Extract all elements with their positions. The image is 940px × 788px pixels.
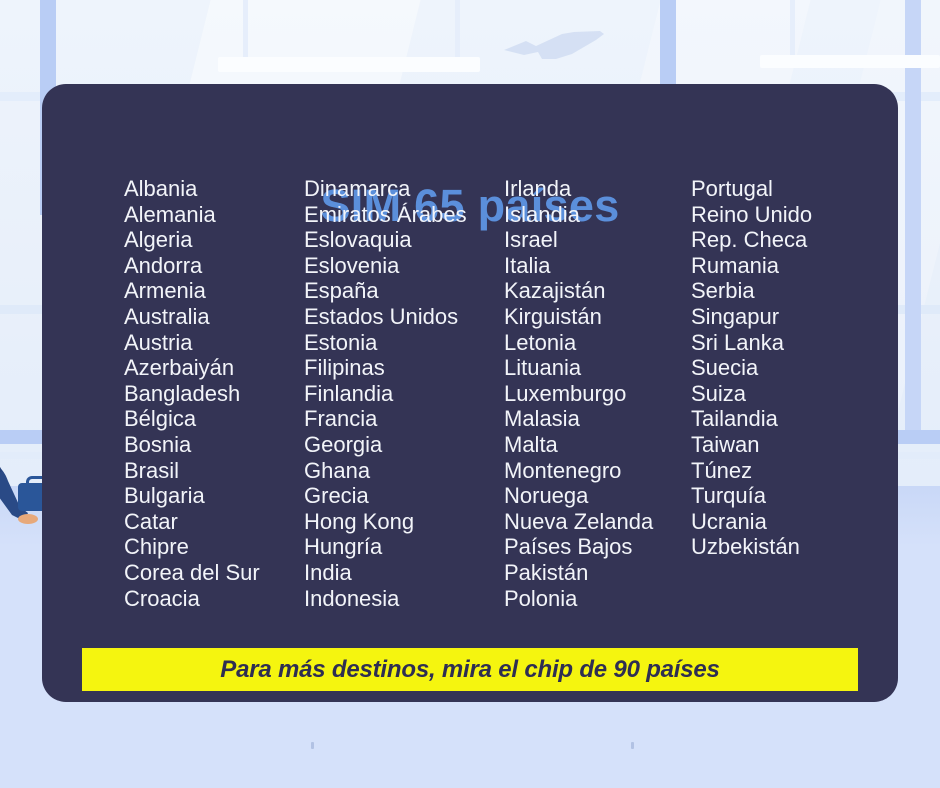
country-item: Turquía — [691, 483, 864, 509]
country-item: Bosnia — [124, 432, 304, 458]
country-item: Polonia — [504, 586, 691, 612]
country-item: Australia — [124, 304, 304, 330]
country-item: Ghana — [304, 458, 504, 484]
airplane-icon — [500, 28, 610, 62]
country-column-3: Irlanda Islandia Israel Italia Kazajistá… — [504, 176, 691, 611]
country-item: Uzbekistán — [691, 534, 864, 560]
hanging-sign-board — [760, 55, 940, 68]
country-item: Israel — [504, 227, 691, 253]
country-item: Rep. Checa — [691, 227, 864, 253]
country-item: Brasil — [124, 458, 304, 484]
country-item: Indonesia — [304, 586, 504, 612]
country-column-1: Albania Alemania Algeria Andorra Armenia… — [124, 176, 304, 611]
country-item: Austria — [124, 330, 304, 356]
country-item: Kazajistán — [504, 278, 691, 304]
country-item: Azerbaiyán — [124, 355, 304, 381]
country-list-card: SIM 65 países Albania Alemania Algeria A… — [42, 84, 898, 702]
country-item: Corea del Sur — [124, 560, 304, 586]
country-item: Georgia — [304, 432, 504, 458]
country-item: Andorra — [124, 253, 304, 279]
country-item: Bulgaria — [124, 483, 304, 509]
country-item: Islandia — [504, 202, 691, 228]
sign-stem — [790, 0, 795, 56]
country-item: Túnez — [691, 458, 864, 484]
country-item: Luxemburgo — [504, 381, 691, 407]
country-item: Hong Kong — [304, 509, 504, 535]
country-item: Bangladesh — [124, 381, 304, 407]
country-item: Malasia — [504, 406, 691, 432]
country-item: Serbia — [691, 278, 864, 304]
country-item: Nueva Zelanda — [504, 509, 691, 535]
country-item: Croacia — [124, 586, 304, 612]
country-column-2: Dinamarca Emiratos Árabes Eslovaquia Esl… — [304, 176, 504, 611]
country-item: Kirguistán — [504, 304, 691, 330]
country-item: Catar — [124, 509, 304, 535]
hanging-sign-board — [218, 57, 480, 72]
country-item: Dinamarca — [304, 176, 504, 202]
country-item: Italia — [504, 253, 691, 279]
country-item: India — [304, 560, 504, 586]
country-item: Grecia — [304, 483, 504, 509]
country-item: Noruega — [504, 483, 691, 509]
country-item: Suecia — [691, 355, 864, 381]
country-item: Albania — [124, 176, 304, 202]
country-item: Eslovenia — [304, 253, 504, 279]
country-item: Lituania — [504, 355, 691, 381]
country-item: Eslovaquia — [304, 227, 504, 253]
country-item: Montenegro — [504, 458, 691, 484]
country-item: Bélgica — [124, 406, 304, 432]
country-item: Estonia — [304, 330, 504, 356]
country-item: Hungría — [304, 534, 504, 560]
country-item: Chipre — [124, 534, 304, 560]
country-item: Portugal — [691, 176, 864, 202]
country-item: Pakistán — [504, 560, 691, 586]
country-item: Alemania — [124, 202, 304, 228]
country-item: Algeria — [124, 227, 304, 253]
country-item: Tailandia — [691, 406, 864, 432]
more-destinations-banner: Para más destinos, mira el chip de 90 pa… — [82, 648, 858, 691]
country-item: Filipinas — [304, 355, 504, 381]
sign-stem — [243, 0, 248, 60]
country-item: Malta — [504, 432, 691, 458]
country-item: Francia — [304, 406, 504, 432]
country-item: Taiwan — [691, 432, 864, 458]
country-item: Países Bajos — [504, 534, 691, 560]
country-item: Irlanda — [504, 176, 691, 202]
country-item: Rumania — [691, 253, 864, 279]
country-item: Reino Unido — [691, 202, 864, 228]
country-item: Finlandia — [304, 381, 504, 407]
country-item: Sri Lanka — [691, 330, 864, 356]
country-item: Suiza — [691, 381, 864, 407]
country-item: Estados Unidos — [304, 304, 504, 330]
country-item: España — [304, 278, 504, 304]
country-columns: Albania Alemania Algeria Andorra Armenia… — [124, 176, 864, 611]
floor-speck — [631, 742, 634, 749]
country-column-4: Portugal Reino Unido Rep. Checa Rumania … — [691, 176, 864, 611]
sign-stem — [455, 0, 460, 60]
country-item: Ucrania — [691, 509, 864, 535]
country-item: Letonia — [504, 330, 691, 356]
floor-speck — [311, 742, 314, 749]
country-item: Armenia — [124, 278, 304, 304]
country-item: Emiratos Árabes — [304, 202, 504, 228]
country-item: Singapur — [691, 304, 864, 330]
banner-text: Para más destinos, mira el chip de 90 pa… — [220, 656, 719, 684]
